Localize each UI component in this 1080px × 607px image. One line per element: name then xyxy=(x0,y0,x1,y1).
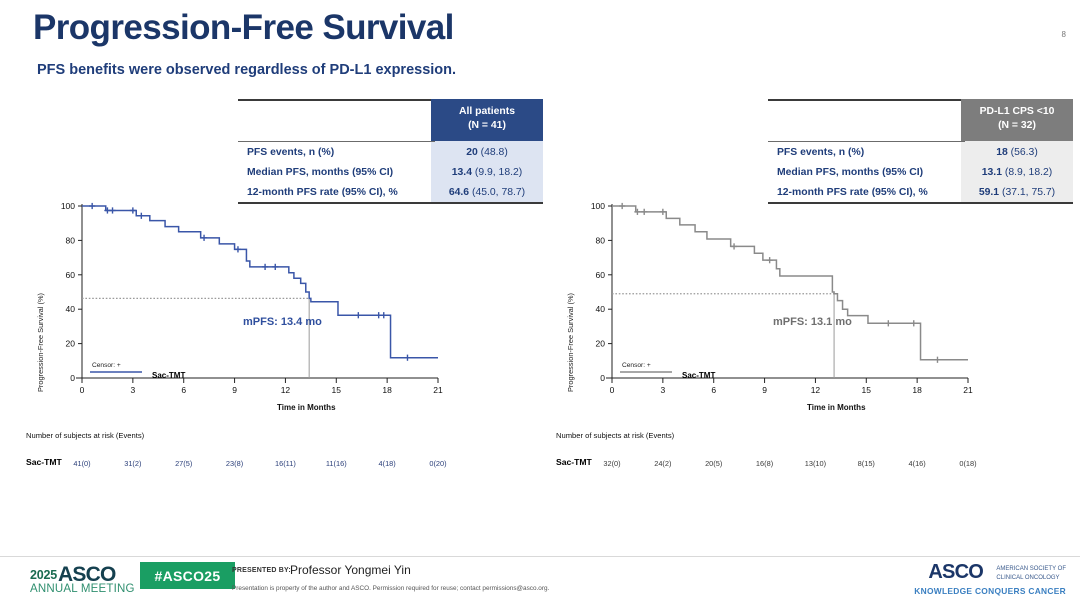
page-subtitle: PFS benefits were observed regardless of… xyxy=(37,62,456,78)
svg-text:0: 0 xyxy=(600,373,605,383)
svg-text:6: 6 xyxy=(181,385,186,395)
presented-by-label: PRESENTED BY: xyxy=(232,567,291,574)
presenter-name: Professor Yongmei Yin xyxy=(290,563,411,577)
page-title: Progression-Free Survival xyxy=(33,8,454,48)
header-spacer xyxy=(238,99,431,141)
table-header-row: PD-L1 CPS <10 (N = 32) xyxy=(768,99,1073,141)
footer-annual-meeting: ANNUAL MEETING xyxy=(30,583,135,595)
mpfs-annotation-left: mPFS: 13.4 mo xyxy=(243,316,322,328)
mpfs-annotation-right: mPFS: 13.1 mo xyxy=(773,316,852,328)
svg-text:20: 20 xyxy=(596,339,606,349)
legend-label-right: Sac-TMT xyxy=(682,371,715,380)
censor-note-right: Censor: + xyxy=(622,362,651,369)
value-ci: (8.9, 18.2) xyxy=(1002,167,1052,178)
asco-logo: ASCO xyxy=(928,561,983,584)
svg-text:9: 9 xyxy=(762,385,767,395)
asco-logo-subtitle-line1: AMERICAN SOCIETY OF xyxy=(996,565,1066,574)
svg-text:20: 20 xyxy=(66,339,76,349)
svg-text:15: 15 xyxy=(332,385,342,395)
value-bold: 13.1 xyxy=(982,167,1002,178)
svg-text:40: 40 xyxy=(596,304,606,314)
row-value: 13.4 (9.9, 18.2) xyxy=(431,162,543,182)
svg-text:80: 80 xyxy=(66,235,76,245)
svg-text:3: 3 xyxy=(660,385,665,395)
table-row: PFS events, n (%) 20 (48.8) xyxy=(238,142,543,162)
risk-cell: 4(18) xyxy=(365,459,409,468)
value-bold: 64.6 xyxy=(449,187,469,198)
row-label: PFS events, n (%) xyxy=(768,142,961,162)
risk-table-arm-left: Sac-TMT xyxy=(26,457,62,467)
risk-cell: 13(10) xyxy=(793,459,837,468)
column-header-line2: (N = 41) xyxy=(433,119,541,133)
value-ci: (37.1, 75.7) xyxy=(999,187,1055,198)
table-row: Median PFS, months (95% CI) 13.1 (8.9, 1… xyxy=(768,162,1073,182)
data-table-pdl1-cps: PD-L1 CPS <10 (N = 32) PFS events, n (%)… xyxy=(768,99,1073,204)
data-table-all-patients: All patients (N = 41) PFS events, n (%) … xyxy=(238,99,543,204)
slide: Progression-Free Survival PFS benefits w… xyxy=(0,0,1080,607)
rule xyxy=(768,99,961,101)
svg-text:40: 40 xyxy=(66,304,76,314)
risk-cell: 23(8) xyxy=(213,459,257,468)
km-plot-left: 020406080100036912151821 xyxy=(30,196,450,418)
page-number: 8 xyxy=(1062,30,1066,39)
svg-text:12: 12 xyxy=(811,385,821,395)
chart-pfs-pdl1-cps: Progression-Free Survival (%) 0204060801… xyxy=(560,196,980,418)
risk-table-arm-right: Sac-TMT xyxy=(556,457,592,467)
column-header-line2: (N = 32) xyxy=(963,119,1071,133)
permission-text: Presentation is property of the author a… xyxy=(232,585,549,592)
value-bold: 59.1 xyxy=(979,187,999,198)
row-value: 13.1 (8.9, 18.2) xyxy=(961,162,1073,182)
risk-cell: 4(16) xyxy=(895,459,939,468)
risk-cell: 27(5) xyxy=(162,459,206,468)
risk-cell: 41(0) xyxy=(60,459,104,468)
risk-cell: 11(16) xyxy=(314,459,358,468)
hashtag-badge: #ASCO25 xyxy=(140,562,235,589)
svg-text:9: 9 xyxy=(232,385,237,395)
table-row: PFS events, n (%) 18 (56.3) xyxy=(768,142,1073,162)
svg-text:0: 0 xyxy=(80,385,85,395)
risk-cell: 20(5) xyxy=(692,459,736,468)
risk-cell: 8(15) xyxy=(844,459,888,468)
asco-logo-subtitle-line2: CLINICAL ONCOLOGY xyxy=(996,574,1066,583)
svg-text:21: 21 xyxy=(963,385,973,395)
risk-cell: 0(18) xyxy=(946,459,990,468)
svg-text:6: 6 xyxy=(711,385,716,395)
svg-text:100: 100 xyxy=(61,201,75,211)
x-axis-title: Time in Months xyxy=(277,403,336,412)
risk-cell: 24(2) xyxy=(641,459,685,468)
column-header-all-patients: All patients (N = 41) xyxy=(431,99,543,141)
y-axis-title: Progression-Free Survival (%) xyxy=(566,293,575,392)
y-axis-title: Progression-Free Survival (%) xyxy=(36,293,45,392)
value-bold: 13.4 xyxy=(452,167,472,178)
legend-label-left: Sac-TMT xyxy=(152,371,185,380)
row-label: Median PFS, months (95% CI) xyxy=(768,162,961,182)
row-value: 20 (48.8) xyxy=(431,142,543,162)
value-bold: 20 xyxy=(466,147,478,158)
svg-text:21: 21 xyxy=(433,385,443,395)
svg-text:80: 80 xyxy=(596,235,606,245)
svg-text:3: 3 xyxy=(130,385,135,395)
risk-cell: 16(11) xyxy=(263,459,307,468)
table-row: Median PFS, months (95% CI) 13.4 (9.9, 1… xyxy=(238,162,543,182)
column-header-line1: All patients xyxy=(433,105,541,119)
value-ci: (48.8) xyxy=(478,147,508,158)
footer-divider xyxy=(0,556,1080,557)
km-plot-right: 020406080100036912151821 xyxy=(560,196,980,418)
svg-text:60: 60 xyxy=(596,270,606,280)
value-ci: (9.9, 18.2) xyxy=(472,167,522,178)
svg-text:0: 0 xyxy=(610,385,615,395)
column-header-pdl1-cps: PD-L1 CPS <10 (N = 32) xyxy=(961,99,1073,141)
risk-cell: 32(0) xyxy=(590,459,634,468)
risk-cell: 31(2) xyxy=(111,459,155,468)
asco-logo-subtitle: AMERICAN SOCIETY OF CLINICAL ONCOLOGY xyxy=(996,565,1066,583)
value-ci: (45.0, 78.7) xyxy=(469,187,525,198)
row-label: Median PFS, months (95% CI) xyxy=(238,162,431,182)
column-header-line1: PD-L1 CPS <10 xyxy=(963,105,1071,119)
svg-text:15: 15 xyxy=(862,385,872,395)
risk-cell: 16(8) xyxy=(743,459,787,468)
chart-pfs-all-patients: Progression-Free Survival (%) 0204060801… xyxy=(30,196,450,418)
svg-text:18: 18 xyxy=(912,385,922,395)
table-header-row: All patients (N = 41) xyxy=(238,99,543,141)
svg-text:0: 0 xyxy=(70,373,75,383)
risk-table-label-left: Number of subjects at risk (Events) xyxy=(26,431,144,440)
row-label: PFS events, n (%) xyxy=(238,142,431,162)
header-spacer xyxy=(768,99,961,141)
risk-cell: 0(20) xyxy=(416,459,460,468)
value-ci: (56.3) xyxy=(1008,147,1038,158)
svg-text:60: 60 xyxy=(66,270,76,280)
asco-tagline: KNOWLEDGE CONQUERS CANCER xyxy=(914,586,1066,596)
footer-year: 2025 xyxy=(30,568,57,582)
x-axis-title: Time in Months xyxy=(807,403,866,412)
censor-note-left: Censor: + xyxy=(92,362,121,369)
row-value: 18 (56.3) xyxy=(961,142,1073,162)
rule xyxy=(238,99,431,101)
svg-text:12: 12 xyxy=(281,385,291,395)
value-bold: 18 xyxy=(996,147,1008,158)
svg-text:18: 18 xyxy=(382,385,392,395)
svg-text:100: 100 xyxy=(591,201,605,211)
risk-table-label-right: Number of subjects at risk (Events) xyxy=(556,431,674,440)
